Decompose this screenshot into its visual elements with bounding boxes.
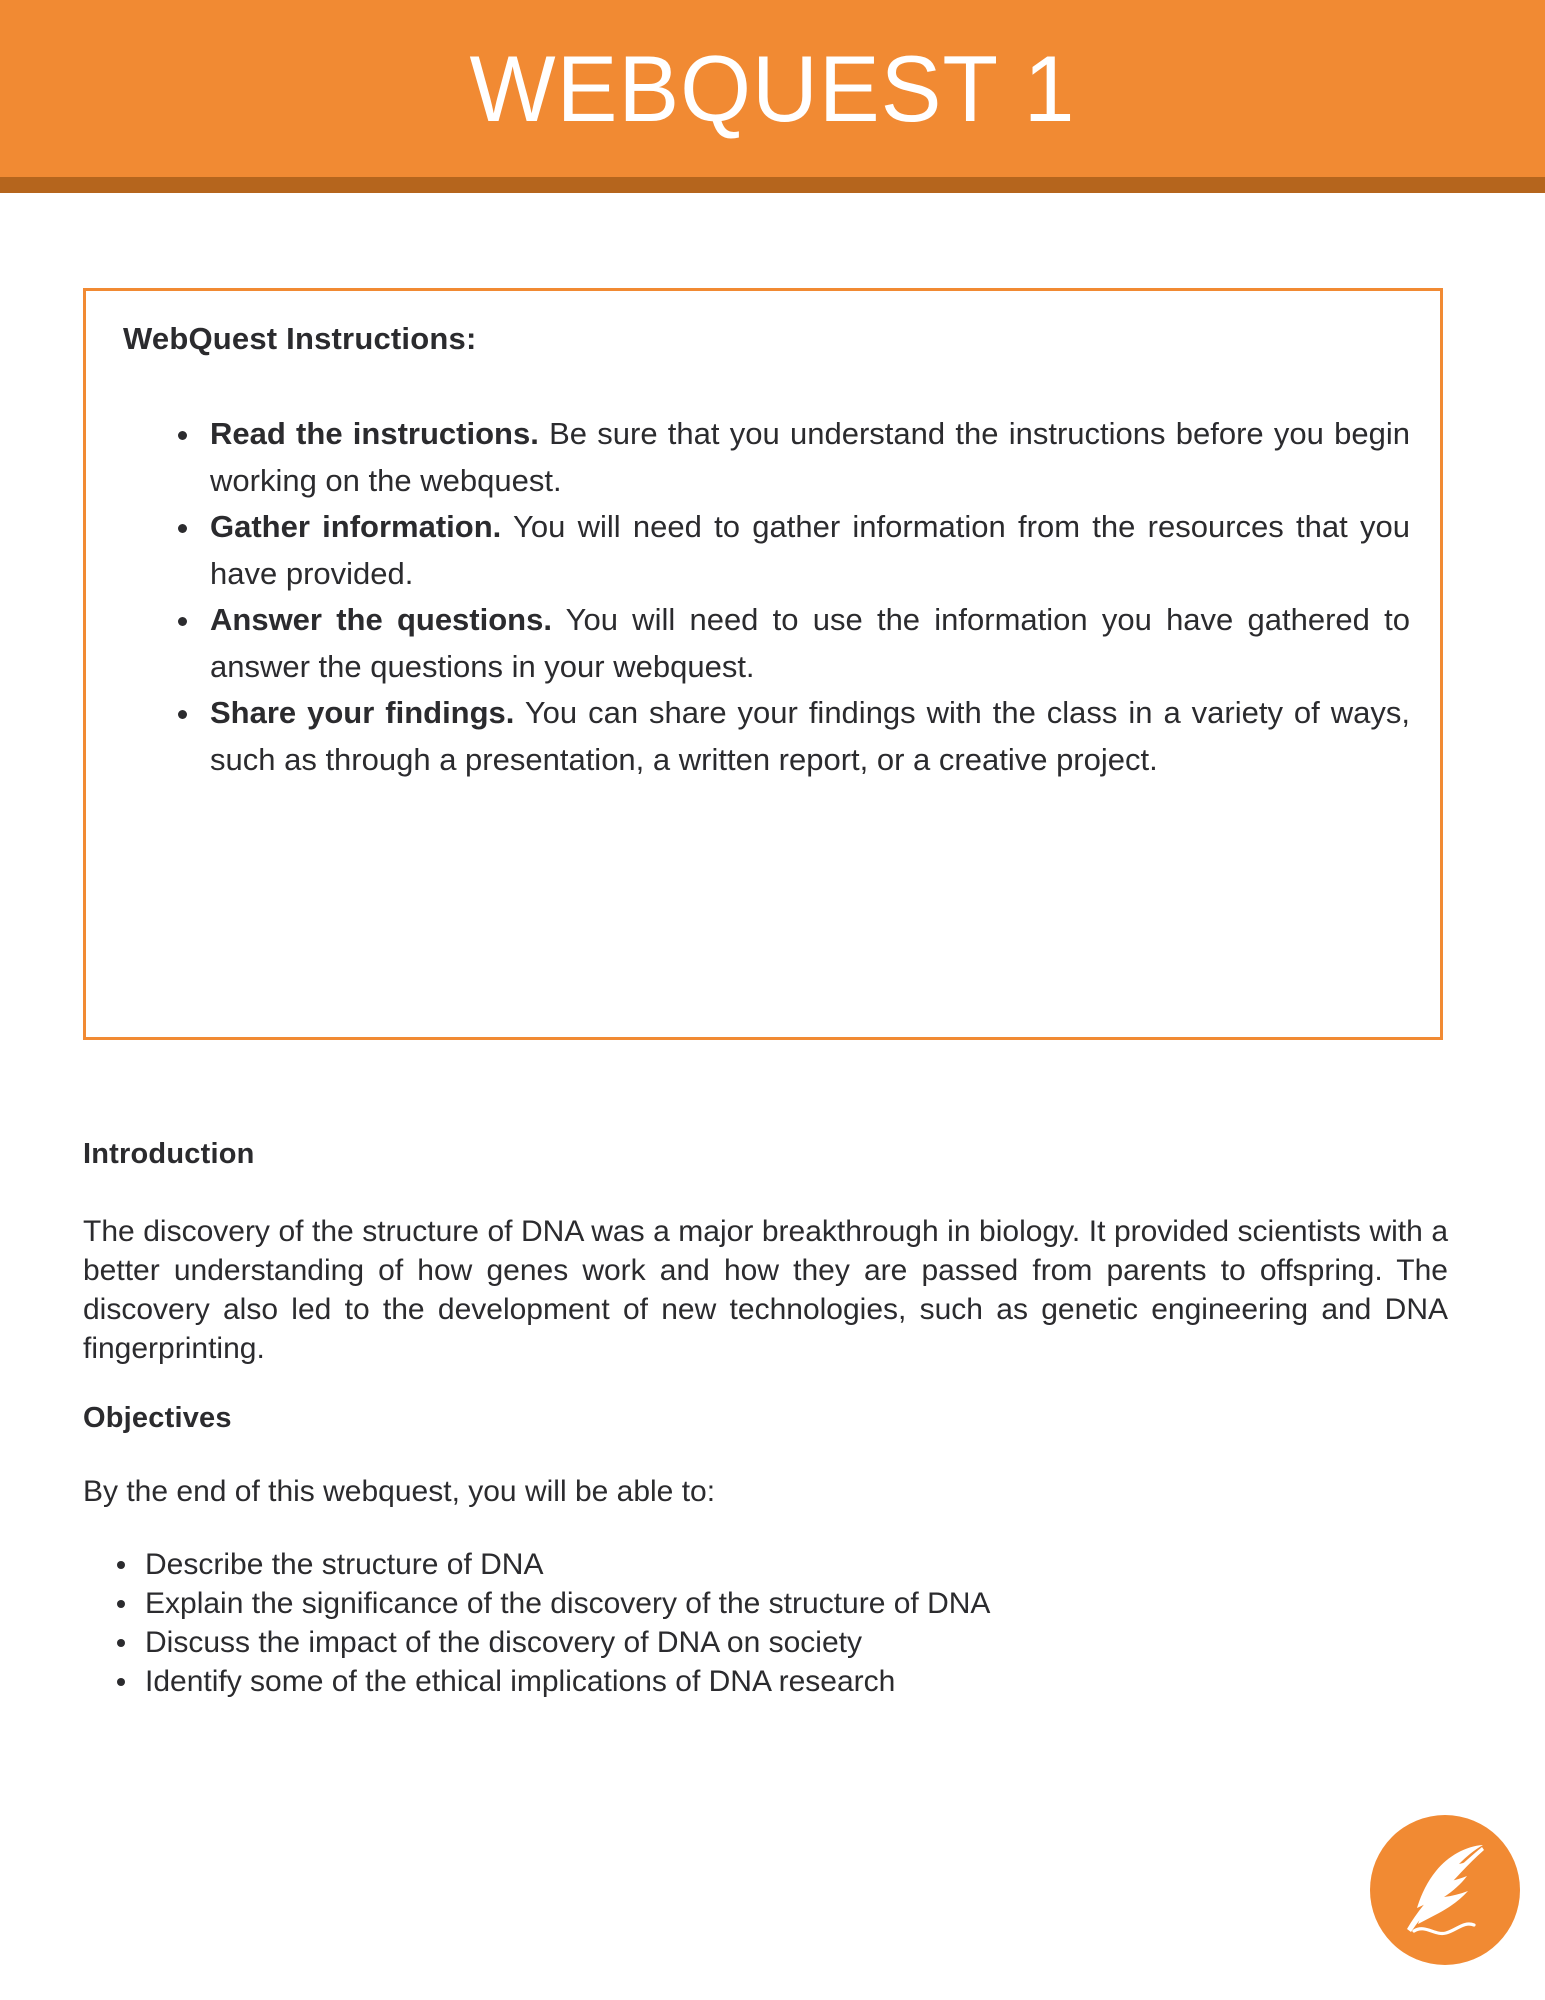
objectives-lead-in: By the end of this webquest, you will be… [83, 1472, 1283, 1511]
instruction-lead: Answer the questions. [210, 602, 552, 637]
introduction-paragraph: The discovery of the structure of DNA wa… [83, 1212, 1448, 1368]
instruction-lead: Read the instructions. [210, 416, 539, 451]
list-item: Describe the structure of DNA [145, 1545, 1395, 1584]
list-item: Answer the questions. You will need to u… [174, 597, 1410, 690]
list-item: Explain the significance of the discover… [145, 1584, 1395, 1623]
list-item: Read the instructions. Be sure that you … [174, 411, 1410, 504]
instruction-lead: Share your findings. [210, 695, 514, 730]
webquest-instructions-box: WebQuest Instructions: Read the instruct… [83, 288, 1443, 1040]
objectives-list: Describe the structure of DNA Explain th… [83, 1545, 1395, 1701]
list-item: Share your findings. You can share your … [174, 690, 1410, 783]
quill-logo-badge [1370, 1815, 1520, 1965]
instructions-heading: WebQuest Instructions: [123, 321, 476, 357]
list-item: Discuss the impact of the discovery of D… [145, 1623, 1395, 1662]
instruction-lead: Gather information. [210, 509, 501, 544]
objectives-heading: Objectives [83, 1402, 232, 1435]
quill-feather-icon [1370, 1815, 1520, 1965]
introduction-heading: Introduction [83, 1138, 255, 1171]
header-accent-bar [0, 177, 1545, 193]
instructions-list: Read the instructions. Be sure that you … [86, 411, 1440, 783]
list-item: Gather information. You will need to gat… [174, 504, 1410, 597]
list-item: Identify some of the ethical implication… [145, 1662, 1395, 1701]
header-banner: WEBQUEST 1 [0, 0, 1545, 177]
page-title: WEBQUEST 1 [23, 0, 1522, 177]
